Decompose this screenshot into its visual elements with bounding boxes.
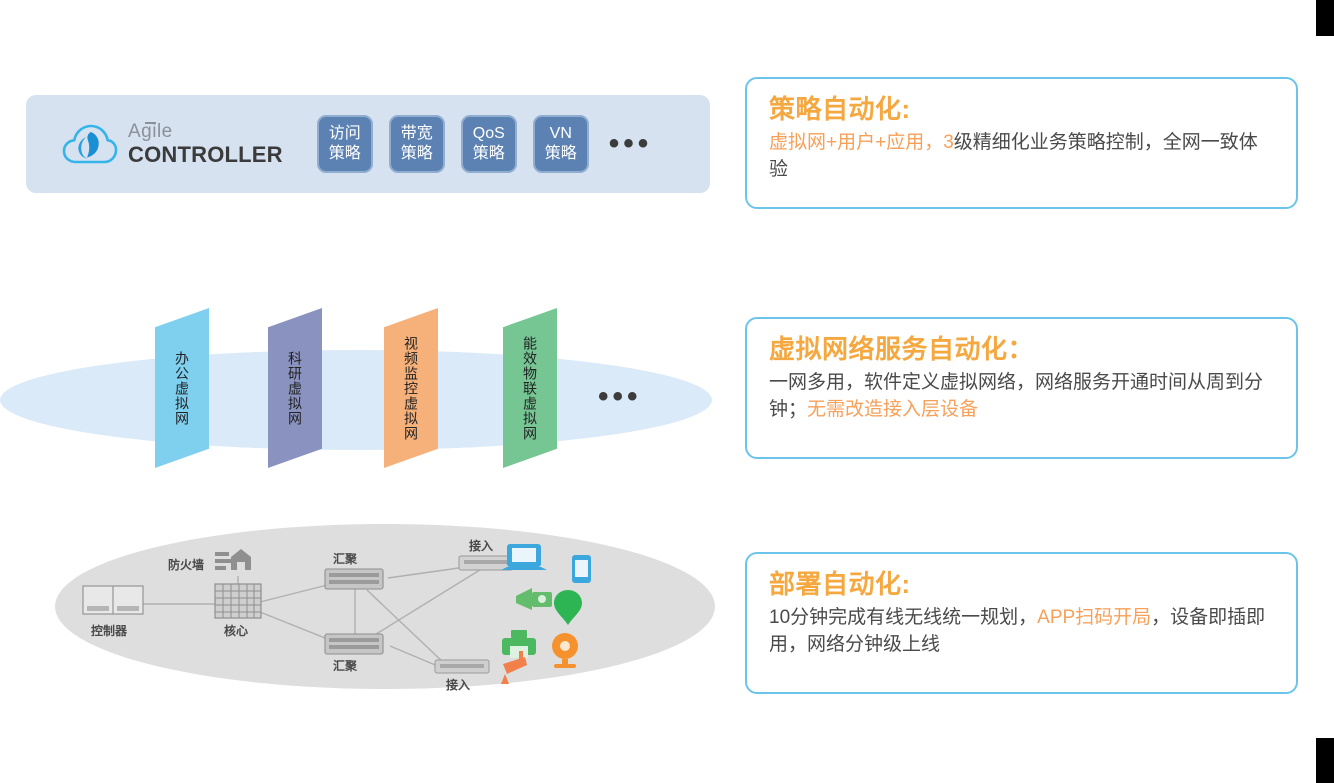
policy-button-qos[interactable]: QoS 策略 [461, 115, 517, 173]
topology-label-core: 核心 [224, 622, 248, 639]
access-bottom-node-icon [435, 660, 489, 673]
agile-controller-bar: Agile CONTROLLER 访问 策略 带宽 策略 QoS 策略 VN 策… [26, 95, 710, 193]
feature-panel-deployment-automation: 部署自动化: 10分钟完成有线无线统一规划，APP扫码开局，设备即插即用，网络分… [745, 552, 1298, 694]
topology-label-agg-bottom: 汇聚 [333, 657, 357, 674]
feature-panel-policy-automation: 策略自动化: 虚拟网+用户+应用，3级精细化业务策略控制，全网一致体验 [745, 77, 1298, 209]
right-edge-bar-top [1316, 0, 1334, 36]
access-top-node-icon [459, 556, 513, 570]
topology-label-agg-top: 汇聚 [333, 550, 357, 567]
panel-title: 虚拟网络服务自动化： [769, 333, 1274, 366]
logo-agile-text: Agile [128, 122, 173, 141]
virtual-network-stage: 办公虚拟网 科研虚拟网 视频监控虚拟网 能效物联虚拟网 ••• [0, 300, 712, 500]
agg-bottom-node-icon [325, 634, 383, 654]
topology-label-access-bottom: 接入 [446, 676, 470, 693]
policy-button-line2: 策略 [473, 144, 505, 164]
logo-macron [145, 122, 156, 124]
vn-plane-label: 办公虚拟网 [174, 351, 190, 426]
panel-plain-text: 10分钟完成有线无线统一规划， [769, 607, 1037, 628]
agg-top-node-icon [325, 569, 383, 589]
controller-node-icon [83, 586, 143, 614]
policy-button-line2: 策略 [545, 144, 577, 164]
tablet-icon [572, 555, 591, 583]
policy-button-access[interactable]: 访问 策略 [317, 115, 373, 173]
policy-button-line2: 策略 [329, 144, 361, 164]
right-edge-bar-bottom [1316, 738, 1334, 783]
vn-plane-label: 科研虚拟网 [287, 351, 303, 426]
vn-more-ellipsis-icon[interactable]: ••• [598, 382, 642, 412]
topology-label-firewall: 防火墙 [168, 556, 204, 573]
policy-button-line1: 访问 [329, 124, 361, 144]
location-pin-icon [554, 590, 582, 625]
policy-more-ellipsis-icon[interactable]: ••• [609, 138, 653, 150]
vn-plane-research[interactable]: 科研虚拟网 [268, 308, 322, 468]
panel-highlight-text: APP扫码开局 [1037, 607, 1151, 628]
topology-graphic [55, 524, 715, 689]
core-node-icon [215, 584, 261, 618]
webcam-icon [552, 633, 578, 668]
vn-plane-label: 视频监控虚拟网 [403, 336, 419, 441]
policy-button-line2: 策略 [401, 144, 433, 164]
cloud-swirl-icon [62, 121, 118, 167]
policy-button-line1: QoS [473, 124, 505, 144]
slide-canvas: Agile CONTROLLER 访问 策略 带宽 策略 QoS 策略 VN 策… [0, 0, 1334, 783]
vn-plane-office[interactable]: 办公虚拟网 [155, 308, 209, 468]
panel-title: 部署自动化: [769, 568, 1274, 601]
vn-plane-label: 能效物联虚拟网 [522, 336, 538, 441]
feature-panel-virtual-network-automation: 虚拟网络服务自动化： 一网多用，软件定义虚拟网络，网络服务开通时间从周到分钟；无… [745, 317, 1298, 459]
policy-button-vn[interactable]: VN 策略 [533, 115, 589, 173]
logo-controller-text: CONTROLLER [128, 144, 283, 166]
panel-highlight-text: 无需改造接入层设备 [807, 399, 978, 420]
vn-plane-video-surveillance[interactable]: 视频监控虚拟网 [384, 308, 438, 468]
projector-icon [516, 588, 552, 610]
policy-button-line1: VN [550, 124, 572, 144]
panel-title: 策略自动化: [769, 93, 1274, 126]
agile-controller-logo: Agile CONTROLLER [62, 121, 283, 167]
panel-highlight-text: 虚拟网+用户+应用，3 [769, 132, 954, 153]
laptop-icon [501, 544, 547, 570]
policy-button-bandwidth[interactable]: 带宽 策略 [389, 115, 445, 173]
firewall-node-icon [215, 549, 251, 570]
topology-label-access-top: 接入 [469, 537, 493, 554]
panel-body: 虚拟网+用户+应用，3级精细化业务策略控制，全网一致体验 [769, 129, 1274, 184]
network-topology-stage: 控制器 防火墙 核心 汇聚 汇聚 接入 接入 [55, 524, 715, 689]
vn-plane-energy-iot[interactable]: 能效物联虚拟网 [503, 308, 557, 468]
panel-body: 10分钟完成有线无线统一规划，APP扫码开局，设备即插即用，网络分钟级上线 [769, 604, 1274, 659]
policy-button-line1: 带宽 [401, 124, 433, 144]
panel-body: 一网多用，软件定义虚拟网络，网络服务开通时间从周到分钟；无需改造接入层设备 [769, 369, 1274, 424]
topology-label-controller: 控制器 [91, 622, 127, 639]
topology-links [143, 564, 487, 667]
